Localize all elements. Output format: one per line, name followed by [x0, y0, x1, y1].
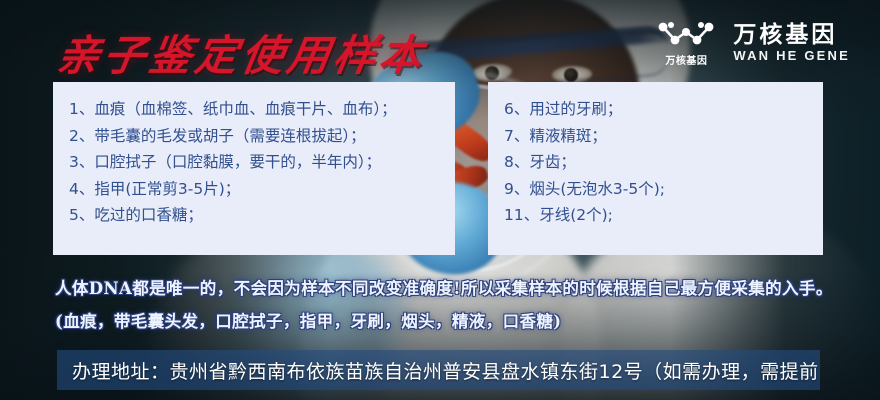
brand-logo: 万核基因 万核基因 WAN HE GENE — [655, 18, 850, 67]
list-item: 7、精液精斑； — [504, 123, 823, 150]
sample-panel-left: 1、血痕（血棉签、纸巾血、血痕干片、血布）； 2、带毛囊的毛发或胡子（需要连根拔… — [53, 82, 455, 255]
list-item: 3、口腔拭子（口腔黏膜，要干的，半年内）； — [69, 149, 455, 176]
brand-mark: 万核基因 — [655, 18, 717, 67]
list-item: 11、牙线(2个); — [504, 202, 823, 229]
dna-molecule-icon — [655, 18, 717, 50]
brand-name-en: WAN HE GENE — [733, 48, 850, 63]
sample-panel-right: 6、用过的牙刷； 7、精液精斑； 8、牙齿； 9、烟头(无泡水3-5个); 11… — [488, 82, 823, 255]
list-item: 1、血痕（血棉签、纸巾血、血痕干片、血布）； — [69, 96, 455, 123]
page-title: 亲子鉴定使用样本 — [53, 22, 431, 83]
brand-mark-label: 万核基因 — [665, 52, 707, 67]
list-item: 2、带毛囊的毛发或胡子（需要连根拔起）； — [69, 123, 455, 150]
note-paragraph: 人体DNA都是唯一的，不会因为样本不同改变准确度!所以采集样本的时候根据自己最方… — [55, 272, 845, 338]
poster-canvas: 亲子鉴定使用样本 万核基因 — [0, 0, 880, 400]
sample-list-right: 6、用过的牙刷； 7、精液精斑； 8、牙齿； 9、烟头(无泡水3-5个); 11… — [488, 82, 823, 229]
sample-list-left: 1、血痕（血棉签、纸巾血、血痕干片、血布）； 2、带毛囊的毛发或胡子（需要连根拔… — [53, 82, 455, 229]
list-item: 6、用过的牙刷； — [504, 96, 823, 123]
list-item: 4、指甲(正常剪3-5片)； — [69, 176, 455, 203]
brand-wordmark: 万核基因 WAN HE GENE — [733, 21, 850, 63]
list-item: 9、烟头(无泡水3-5个); — [504, 176, 823, 203]
brand-name-cn: 万核基因 — [733, 21, 837, 48]
list-item: 5、吃过的口香糖； — [69, 202, 455, 229]
address-text: 办理地址：贵州省黔西南布依族苗族自治州普安县盘水镇东街12号（如需办理，需提前 — [72, 352, 819, 388]
list-item: 8、牙齿； — [504, 149, 823, 176]
